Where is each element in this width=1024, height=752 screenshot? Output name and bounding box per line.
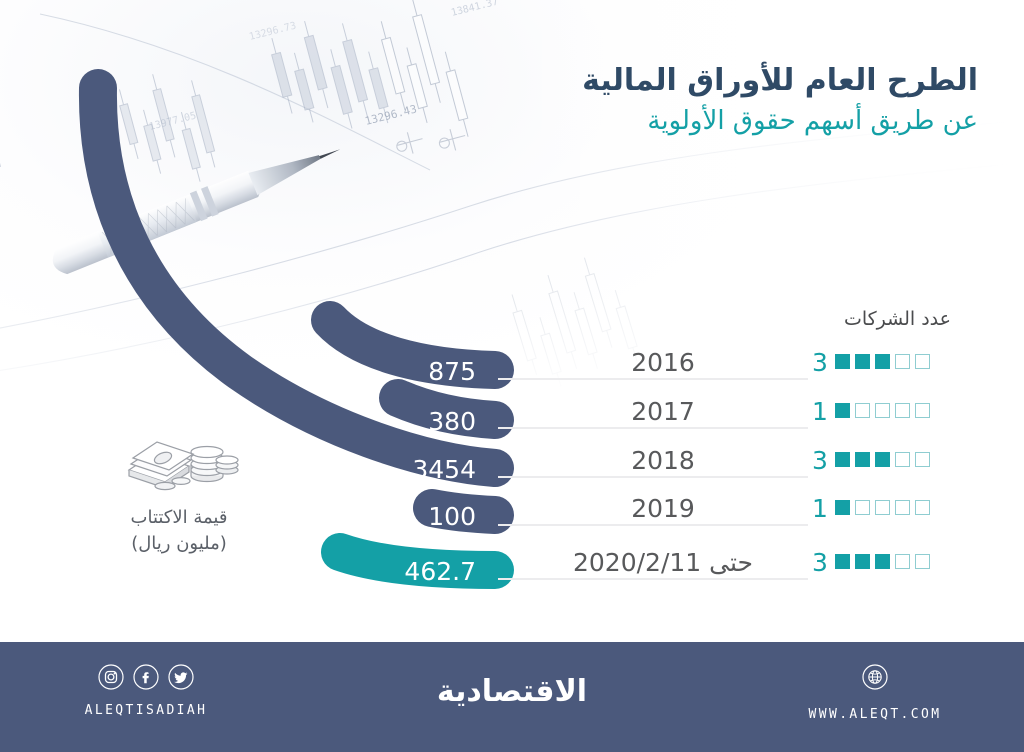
square-filled (855, 452, 870, 467)
square-filled (835, 403, 850, 418)
row-rule (498, 524, 808, 526)
infographic-canvas: 13296.43 13841.37 13977.05 13296.73 (0, 0, 1024, 752)
square-filled (875, 452, 890, 467)
square-empty (895, 554, 910, 569)
legend-line-2: (مليون ريال) (84, 531, 274, 557)
row-year-label: حتى 2020/2/11 (558, 548, 768, 577)
square-empty (915, 452, 930, 467)
square-empty (895, 354, 910, 369)
square-empty (895, 452, 910, 467)
square-filled (875, 354, 890, 369)
row-company-squares (835, 500, 930, 515)
square-empty (915, 354, 930, 369)
row-company-squares (835, 554, 930, 569)
square-empty (875, 500, 890, 515)
row-company-count: 3 (812, 348, 828, 377)
square-filled (855, 554, 870, 569)
row-company-count: 1 (812, 397, 828, 426)
square-empty (895, 403, 910, 418)
table-row: 2017 1 (498, 401, 928, 449)
footer-bar: ALEQTISADIAH الاقتصادية WWW.ALEQT.COM (0, 642, 1024, 752)
page-subtitle: عن طريق أسهم حقوق الأولوية (582, 104, 978, 139)
square-empty (895, 500, 910, 515)
square-empty (915, 403, 930, 418)
money-stack-icon (84, 425, 274, 497)
square-empty (915, 554, 930, 569)
row-year-label: 2016 (608, 348, 718, 377)
row-year-label: 2018 (608, 446, 718, 475)
bar-value-2017: 380 (296, 407, 476, 436)
square-filled (875, 554, 890, 569)
legend-caption: قيمة الاكتتاب (مليون ريال) (84, 505, 274, 557)
row-company-count: 1 (812, 494, 828, 523)
companies-count-header: عدد الشركات (844, 308, 951, 330)
row-rule (498, 427, 808, 429)
bar-value-2016: 875 (296, 357, 476, 386)
row-company-squares (835, 452, 930, 467)
row-company-squares (835, 354, 930, 369)
table-row: 2019 1 (498, 498, 928, 546)
bar-value-2018: 3454 (296, 455, 476, 484)
square-filled (835, 452, 850, 467)
square-filled (855, 354, 870, 369)
square-filled (835, 354, 850, 369)
row-rule (498, 378, 808, 380)
row-rule (498, 476, 808, 478)
headline-block: الطرح العام للأوراق المالية عن طريق أسهم… (582, 62, 978, 139)
row-company-count: 3 (812, 548, 828, 577)
website-url: WWW.ALEQT.COM (760, 707, 990, 722)
legend-line-1: قيمة الاكتتاب (84, 505, 274, 531)
square-empty (855, 500, 870, 515)
globe-icon[interactable] (862, 664, 888, 690)
bar-value-2020: 462.7 (296, 557, 476, 586)
value-legend: قيمة الاكتتاب (مليون ريال) (84, 425, 274, 557)
square-filled (835, 500, 850, 515)
square-empty (875, 403, 890, 418)
table-row: 2016 3 (498, 352, 928, 400)
square-filled (835, 554, 850, 569)
row-rule (498, 578, 808, 580)
row-company-count: 3 (812, 446, 828, 475)
row-company-squares (835, 403, 930, 418)
row-year-label: 2019 (608, 494, 718, 523)
square-empty (915, 500, 930, 515)
table-row: حتى 2020/2/11 3 (498, 552, 928, 600)
table-row: 2018 3 (498, 450, 928, 498)
page-title: الطرح العام للأوراق المالية (582, 62, 978, 100)
footer-website-block: WWW.ALEQT.COM (760, 664, 990, 722)
row-year-label: 2017 (608, 397, 718, 426)
bar-value-2019: 100 (296, 502, 476, 531)
square-empty (855, 403, 870, 418)
